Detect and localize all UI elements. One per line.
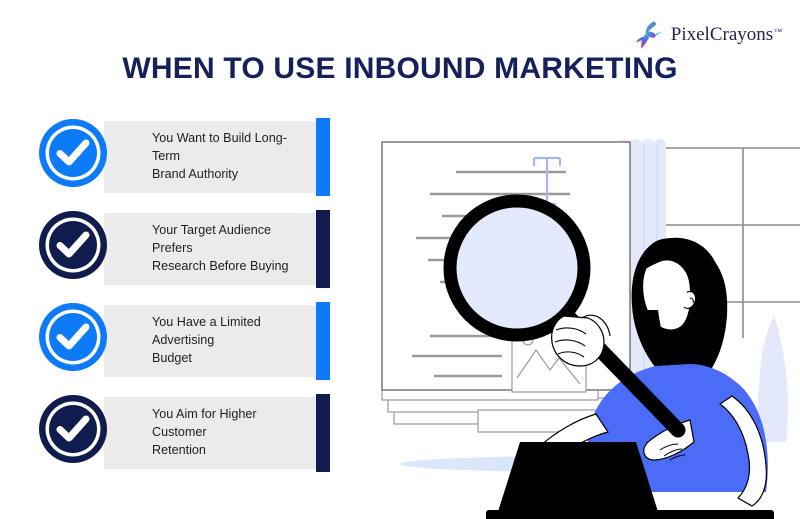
- hummingbird-icon: [633, 18, 667, 52]
- checklist: You Want to Build Long-Term Brand Author…: [38, 118, 338, 486]
- list-item-label: Your Target Audience Prefers Research Be…: [104, 222, 316, 276]
- list-item-line-2: Brand Authority: [152, 167, 238, 181]
- list-item-panel: Your Target Audience Prefers Research Be…: [104, 213, 316, 285]
- list-item-accent-bar: [316, 210, 330, 288]
- list-item-line-2: Budget: [152, 351, 192, 365]
- check-circle-icon: [38, 210, 108, 280]
- list-item-accent-bar: [316, 394, 330, 472]
- laptop-screen: [496, 442, 660, 518]
- list-item-label: You Aim for Higher Customer Retention: [104, 406, 316, 460]
- list-item-panel: You Want to Build Long-Term Brand Author…: [104, 121, 316, 193]
- list-item-label: You Have a Limited Advertising Budget: [104, 314, 316, 368]
- list-item-line-1: You Aim for Higher Customer: [152, 407, 257, 439]
- list-item-line-2: Retention: [152, 443, 206, 457]
- check-circle-icon: [38, 118, 108, 188]
- list-item-label: You Want to Build Long-Term Brand Author…: [104, 130, 316, 184]
- list-item[interactable]: You Aim for Higher Customer Retention: [38, 394, 338, 472]
- woman-researching-documents-illustration: [360, 120, 800, 519]
- list-item-panel: You Have a Limited Advertising Budget: [104, 305, 316, 377]
- list-item-line-1: Your Target Audience Prefers: [152, 223, 271, 255]
- check-circle-icon: [38, 394, 108, 464]
- list-item-line-1: You Have a Limited Advertising: [152, 315, 261, 347]
- illustration-svg: [360, 120, 800, 519]
- trademark-symbol: ™: [774, 27, 782, 36]
- list-item-panel: You Aim for Higher Customer Retention: [104, 397, 316, 469]
- list-item[interactable]: You Have a Limited Advertising Budget: [38, 302, 338, 380]
- infographic-canvas: PixelCrayons™ WHEN TO USE INBOUND MARKET…: [0, 0, 800, 519]
- list-item-accent-bar: [316, 302, 330, 380]
- list-item[interactable]: You Want to Build Long-Term Brand Author…: [38, 118, 338, 196]
- brand-name: PixelCrayons: [671, 24, 773, 45]
- brand-logo: PixelCrayons™: [633, 18, 782, 52]
- page-title: WHEN TO USE INBOUND MARKETING: [0, 52, 800, 86]
- check-circle-icon: [38, 302, 108, 372]
- list-item-line-1: You Want to Build Long-Term: [152, 131, 287, 163]
- list-item-accent-bar: [316, 118, 330, 196]
- list-item[interactable]: Your Target Audience Prefers Research Be…: [38, 210, 338, 288]
- laptop-base: [486, 510, 774, 519]
- list-item-line-2: Research Before Buying: [152, 259, 289, 273]
